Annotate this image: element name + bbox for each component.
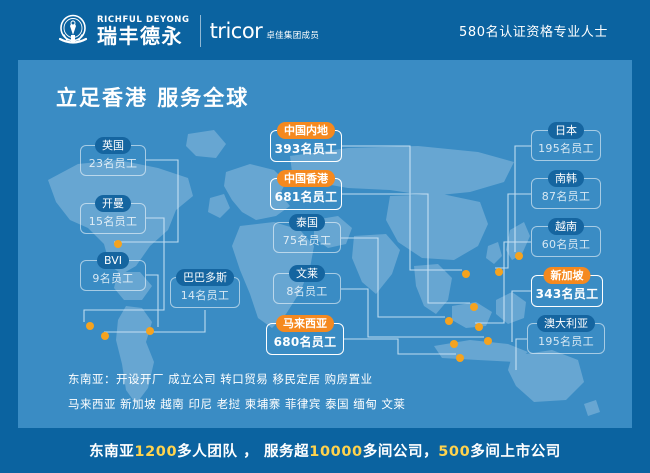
- brand-logo[interactable]: RICHFUL DEYONG 瑞丰德永 tricor 卓佳集团成员: [55, 13, 319, 49]
- location-card[interactable]: 中国香港681名员工: [270, 178, 342, 210]
- location-staff-count: 195名员工: [530, 333, 602, 349]
- footer-number-1: 1200: [134, 444, 177, 460]
- location-name: 文莱: [289, 265, 325, 282]
- location-name: 英国: [95, 137, 131, 154]
- hongkong-marker[interactable]: [470, 303, 478, 311]
- location-name: 越南: [548, 218, 584, 235]
- uk-marker[interactable]: [114, 240, 122, 248]
- indonesia-marker[interactable]: [456, 354, 464, 362]
- location-staff-count: 75名员工: [276, 232, 338, 248]
- brunei-marker[interactable]: [484, 337, 492, 345]
- footnotes: 东南亚：开设开厂 成立公司 转口贸易 移民定居 购房置业 马来西亚 新加坡 越南…: [68, 371, 405, 412]
- footer-seg-2: 多人团队 ， 服务超: [177, 444, 309, 460]
- page-title: 立足香港 服务全球: [56, 82, 249, 112]
- location-name: 泰国: [289, 214, 325, 231]
- location-name: 新加坡: [544, 267, 591, 284]
- shield-crest-icon: [55, 13, 91, 49]
- footer-seg-3: 多间公司，: [363, 444, 439, 460]
- footer-number-3: 500: [438, 444, 470, 460]
- japan-marker[interactable]: [515, 252, 523, 260]
- poster-root: RICHFUL DEYONG 瑞丰德永 tricor 卓佳集团成员 580名认证…: [0, 0, 650, 473]
- china-marker[interactable]: [462, 270, 470, 278]
- location-card[interactable]: BVI9名员工: [80, 260, 146, 291]
- location-staff-count: 195名员工: [534, 140, 598, 156]
- location-card[interactable]: 越南60名员工: [531, 226, 601, 257]
- page-header: RICHFUL DEYONG 瑞丰德永 tricor 卓佳集团成员 580名认证…: [0, 0, 650, 60]
- footnote-line-2: 马来西亚 新加坡 越南 印尼 老挝 柬埔寨 菲律宾 泰国 缅甸 文莱: [68, 396, 405, 412]
- location-staff-count: 393名员工: [273, 140, 339, 157]
- location-card[interactable]: 文莱8名员工: [273, 273, 341, 304]
- location-card[interactable]: 泰国75名员工: [273, 222, 341, 253]
- location-card[interactable]: 南韩87名员工: [531, 178, 601, 209]
- footnote-line-1: 东南亚：开设开厂 成立公司 转口贸易 移民定居 购房置业: [68, 371, 405, 387]
- location-card[interactable]: 英国23名员工: [80, 145, 146, 176]
- korea-marker[interactable]: [495, 268, 503, 276]
- location-card[interactable]: 日本195名员工: [531, 130, 601, 161]
- location-name: BVI: [97, 252, 129, 269]
- location-name: 开曼: [95, 195, 131, 212]
- brand-name-en: RICHFUL DEYONG: [97, 16, 190, 25]
- footer-statement: 东南亚1200多人团队 ， 服务超10000多间公司，500多间上市公司: [89, 440, 561, 461]
- location-staff-count: 681名员工: [273, 188, 339, 205]
- location-card[interactable]: 澳大利亚195名员工: [527, 323, 605, 354]
- location-staff-count: 60名员工: [534, 236, 598, 252]
- location-name: 中国香港: [277, 170, 335, 187]
- bvi-marker[interactable]: [146, 327, 154, 335]
- location-staff-count: 9名员工: [83, 270, 143, 286]
- partner-logo[interactable]: tricor 卓佳集团成员: [210, 21, 320, 42]
- header-tagline: 580名认证资格专业人士: [459, 0, 608, 60]
- location-staff-count: 15名员工: [83, 213, 143, 229]
- location-staff-count: 23名员工: [83, 155, 143, 171]
- location-card[interactable]: 新加坡343名员工: [531, 275, 603, 307]
- thailand-marker[interactable]: [445, 317, 453, 325]
- location-name: 南韩: [548, 170, 584, 187]
- location-name: 日本: [548, 122, 584, 139]
- location-card[interactable]: 中国内地393名员工: [270, 130, 342, 162]
- location-name: 澳大利亚: [537, 315, 595, 332]
- location-card[interactable]: 巴巴多斯14名员工: [170, 277, 240, 308]
- vietnam-marker[interactable]: [475, 323, 483, 331]
- barbados-marker[interactable]: [101, 332, 109, 340]
- caribbean-marker[interactable]: [86, 322, 94, 330]
- page-footer: 东南亚1200多人团队 ， 服务超10000多间公司，500多间上市公司: [0, 428, 650, 473]
- location-staff-count: 8名员工: [276, 283, 338, 299]
- location-staff-count: 343名员工: [534, 285, 600, 302]
- logo-divider: [200, 15, 201, 47]
- footer-seg-1: 东南亚: [89, 444, 134, 460]
- location-staff-count: 87名员工: [534, 188, 598, 204]
- location-card[interactable]: 马来西亚680名员工: [266, 323, 344, 355]
- location-name: 马来西亚: [276, 315, 334, 332]
- malaysia-marker[interactable]: [450, 340, 458, 348]
- location-staff-count: 680名员工: [269, 333, 341, 350]
- location-name: 中国内地: [277, 122, 335, 139]
- brand-name-cn: 瑞丰德永: [97, 26, 190, 46]
- partner-subtitle: 卓佳集团成员: [266, 29, 319, 42]
- footer-number-2: 10000: [309, 444, 362, 460]
- partner-name: tricor: [210, 21, 263, 42]
- footer-seg-4: 多间上市公司: [470, 444, 561, 460]
- location-staff-count: 14名员工: [173, 287, 237, 303]
- map-panel: 立足香港 服务全球 英国23名员工开曼15名员工BVI9名员工巴巴多斯14名员工…: [18, 60, 632, 428]
- location-card[interactable]: 开曼15名员工: [80, 203, 146, 234]
- location-name: 巴巴多斯: [176, 269, 234, 286]
